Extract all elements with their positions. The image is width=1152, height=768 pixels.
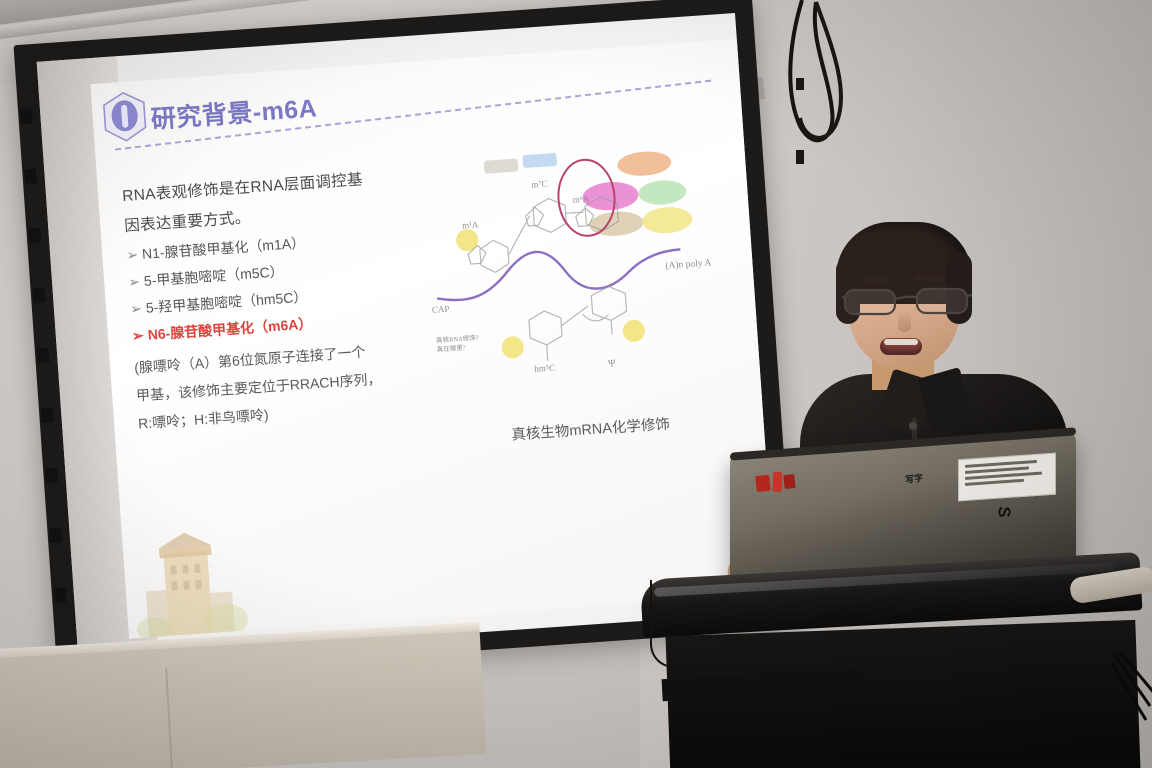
screen-tension-tab (32, 288, 45, 304)
handwritten-marking: 写字 (905, 469, 954, 500)
svg-text:m⁷C: m⁷C (531, 178, 548, 189)
screen-tension-tab (28, 228, 41, 244)
cable-bundle-icon (1110, 650, 1152, 730)
hanging-cables-icon (770, 0, 890, 210)
list-item-label: N6-腺苷酸甲基化（m6A） (147, 315, 313, 342)
slide-text-column: RNA表观修饰是在RNA层面调控基 因表达重要方式。 ➢N1-腺苷酸甲基化（m1… (121, 161, 438, 437)
arrow-bullet-icon: ➢ (128, 273, 141, 290)
screen-tension-tab (37, 348, 50, 364)
podium-cable (650, 580, 702, 668)
arrow-bullet-icon: ➢ (126, 246, 139, 263)
screen-tension-tab (45, 467, 58, 483)
svg-text:hm⁵C: hm⁵C (534, 362, 555, 373)
nose (898, 310, 911, 332)
arrow-bullet-icon: ➢ (131, 327, 144, 344)
teeth (884, 339, 918, 345)
svg-text:m¹A: m¹A (462, 219, 479, 230)
screen-tension-tab (24, 168, 37, 184)
screen-tension-tab (20, 108, 33, 124)
shirt-button (909, 422, 917, 430)
screen-tension-tab (53, 587, 66, 603)
lecture-room-scene: 研究背景-m6A RNA表观修饰是在RNA层面调控基 因表达重要方式。 ➢N1-… (0, 0, 1152, 768)
svg-text:CAP: CAP (432, 304, 450, 315)
lid-side-glyph: S (993, 506, 1013, 518)
asset-inventory-label (958, 453, 1056, 502)
arrow-bullet-icon: ➢ (130, 300, 143, 317)
mrna-modification-diagram: m¹A m⁷C m⁶A CAP (A)n poly A hm⁵C Ψ 真核RNA… (421, 136, 739, 426)
svg-text:m⁶A: m⁶A (572, 194, 590, 205)
screen-tension-tab (49, 527, 62, 543)
red-logo-sticker (753, 468, 799, 498)
hexagon-monogram-logo (101, 90, 148, 143)
campus-building-watermark (128, 526, 255, 638)
black-podium (640, 580, 1152, 768)
presentation-slide: 研究背景-m6A RNA表观修饰是在RNA层面调控基 因表达重要方式。 ➢N1-… (90, 39, 775, 639)
screen-tension-tab (41, 408, 54, 424)
svg-text:(A)n poly A: (A)n poly A (665, 257, 712, 271)
svg-text:Ψ: Ψ (608, 358, 617, 370)
list-item-label: 5-甲基胞嘧啶（m5C） (143, 263, 284, 289)
svg-text:真核RNA修饰?: 真核RNA修饰? (436, 333, 479, 345)
